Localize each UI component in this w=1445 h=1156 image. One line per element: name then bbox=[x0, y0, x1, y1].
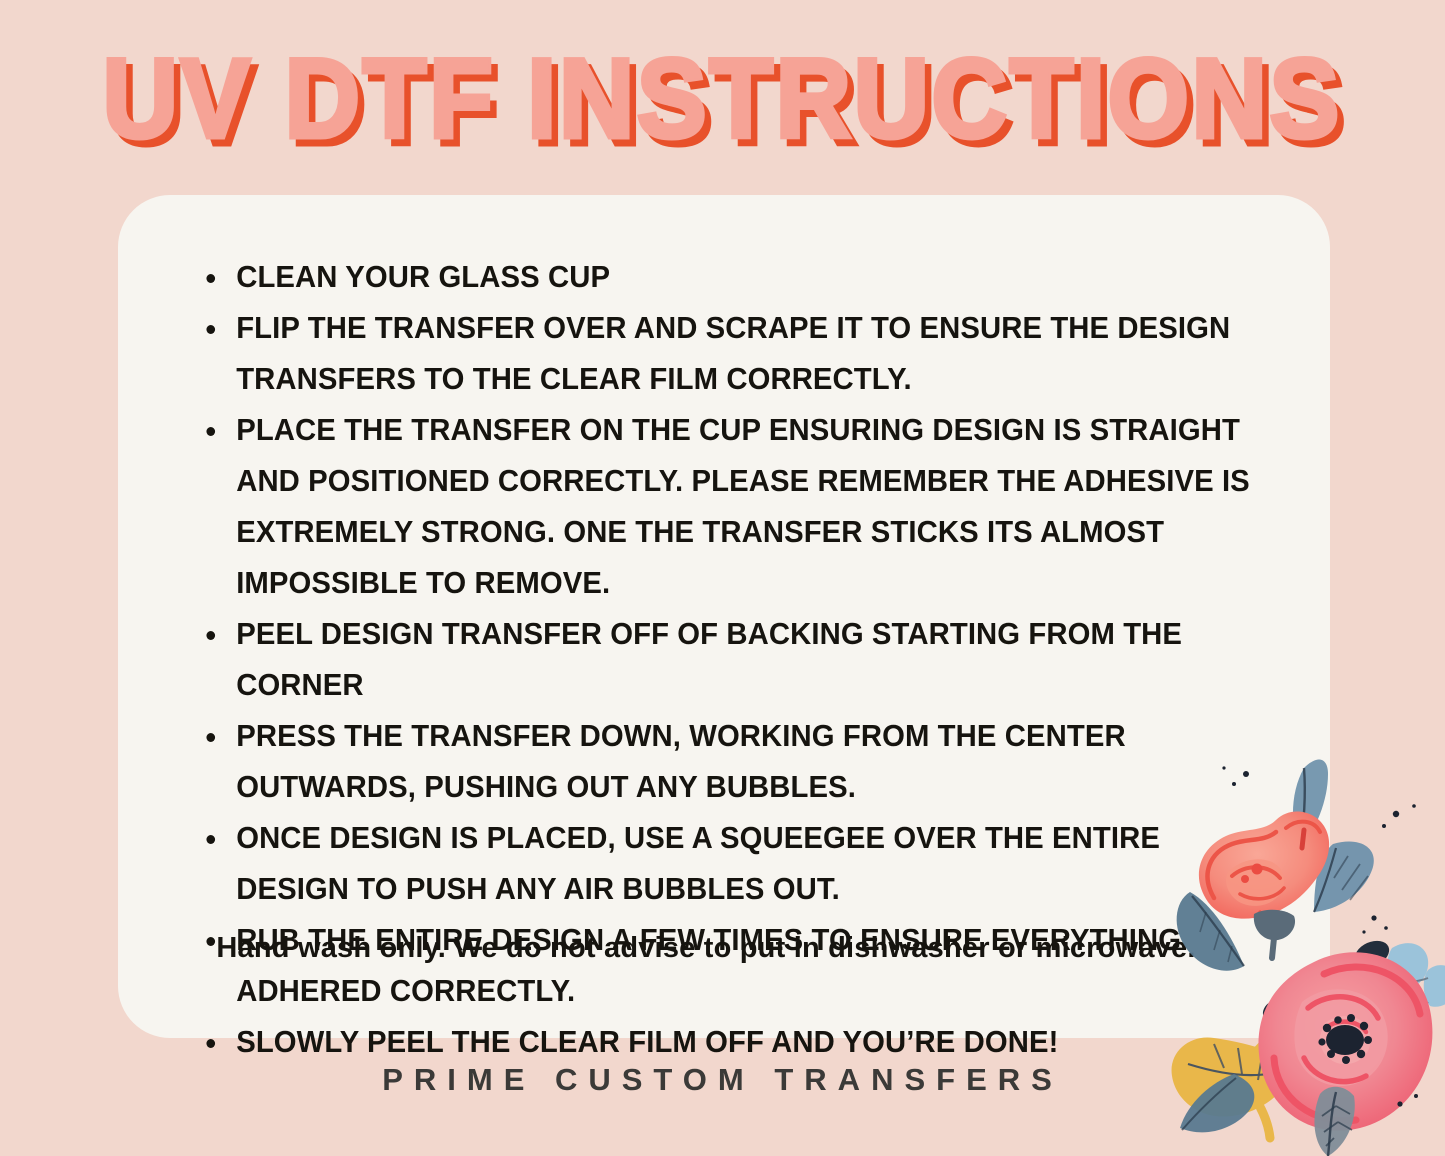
title-text-group: UV DTF INSTRUCTIONS UV DTF INSTRUCTIONS bbox=[103, 40, 1342, 158]
poster-page: UV DTF INSTRUCTIONS UV DTF INSTRUCTIONS … bbox=[0, 0, 1445, 1156]
list-item: Flip the transfer over and scrape it to … bbox=[193, 303, 1254, 405]
list-item: Slowly peel the clear film off and you’r… bbox=[193, 1017, 1254, 1068]
list-item: Once design is placed, use a squeegee ov… bbox=[193, 813, 1254, 915]
care-note: Hand wash only. We do not advise to put … bbox=[118, 930, 1294, 966]
instructions-card: Clean your glass cup Flip the transfer o… bbox=[118, 195, 1330, 1038]
page-title: UV DTF INSTRUCTIONS UV DTF INSTRUCTIONS bbox=[0, 40, 1445, 165]
list-item: Place the transfer on the cup ensuring d… bbox=[193, 405, 1254, 609]
footer-brand: PRIME CUSTOM TRANSFERS bbox=[0, 1062, 1445, 1098]
list-item: Press the transfer down, working from th… bbox=[193, 711, 1254, 813]
title-fill-layer: UV DTF INSTRUCTIONS bbox=[103, 36, 1342, 161]
list-item: Peel design transfer off of backing star… bbox=[193, 609, 1254, 711]
list-item: Clean your glass cup bbox=[193, 252, 1254, 303]
